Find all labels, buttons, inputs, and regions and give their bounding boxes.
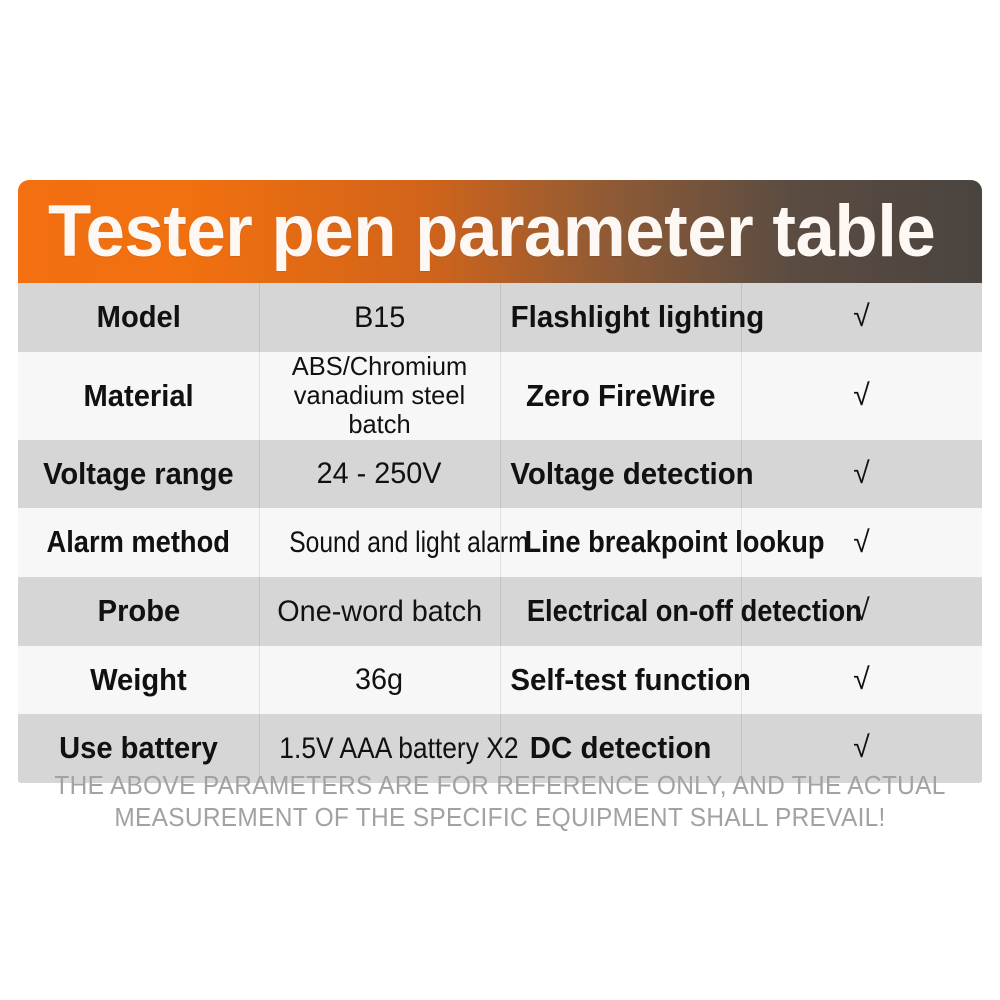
row-label-cell: Material	[18, 352, 259, 440]
row-value: B15	[354, 302, 405, 333]
row-feature-cell: Electrical on-off detection	[500, 577, 741, 646]
row-feature: Flashlight lighting	[511, 301, 765, 333]
row-check-cell: √	[741, 352, 982, 440]
row-value-cell: 36g	[259, 646, 500, 715]
row-value: 24 - 250V	[317, 458, 442, 489]
row-feature-cell: Flashlight lighting	[500, 283, 741, 352]
row-feature: Zero FireWire	[526, 380, 716, 412]
row-label: Weight	[90, 664, 187, 696]
row-label: Model	[96, 301, 180, 333]
disclaimer-line-1: THE ABOVE PARAMETERS ARE FOR REFERENCE O…	[37, 770, 962, 802]
row-label-cell: Alarm method	[18, 508, 259, 577]
row-feature: Line breakpoint lookup	[524, 526, 824, 558]
row-feature-cell: Self-test function	[500, 646, 741, 715]
checkmark-icon: √	[853, 459, 869, 489]
row-value-cell: Sound and light alarm	[259, 508, 500, 577]
row-value: Sound and light alarm	[289, 527, 528, 558]
table-header-row: Tester pen parameter table	[18, 180, 982, 283]
row-value: ABS/Chromium vanadium steel batch	[265, 352, 493, 440]
disclaimer-note: THE ABOVE PARAMETERS ARE FOR REFERENCE O…	[37, 770, 962, 835]
table-row: Alarm method Sound and light alarm Line …	[18, 508, 982, 577]
row-value: 36g	[355, 664, 403, 695]
table-row: Material ABS/Chromium vanadium steel bat…	[18, 352, 982, 440]
spec-sheet-canvas: Tester pen parameter table Model B15 Fla…	[0, 0, 1000, 1000]
row-feature-cell: Voltage detection	[500, 440, 741, 509]
table-header-banner: Tester pen parameter table	[18, 180, 982, 283]
row-value-cell: One-word batch	[259, 577, 500, 646]
row-check-cell: √	[741, 283, 982, 352]
row-label: Alarm method	[47, 526, 230, 558]
checkmark-icon: √	[853, 302, 869, 332]
row-label-cell: Model	[18, 283, 259, 352]
row-feature: Voltage detection	[510, 458, 753, 490]
row-check-cell: √	[741, 440, 982, 509]
row-value: One-word batch	[277, 596, 482, 627]
row-value-cell: 24 - 250V	[259, 440, 500, 509]
row-value-line1: ABS/Chromium	[292, 351, 468, 381]
row-label-cell: Voltage range	[18, 440, 259, 509]
checkmark-icon: √	[853, 381, 869, 411]
row-feature: DC detection	[530, 732, 712, 764]
row-label-cell: Weight	[18, 646, 259, 715]
page-title: Tester pen parameter table	[48, 195, 954, 268]
table-row: Voltage range 24 - 250V Voltage detectio…	[18, 440, 982, 509]
table-row: Probe One-word batch Electrical on-off d…	[18, 577, 982, 646]
row-value: 1.5V AAA battery X2	[279, 733, 518, 764]
row-value-line2: vanadium steel batch	[294, 380, 465, 439]
row-feature: Electrical on-off detection	[527, 595, 862, 627]
row-label-cell: Probe	[18, 577, 259, 646]
checkmark-icon: √	[853, 665, 869, 695]
table-body: Model B15 Flashlight lighting √ Material	[18, 283, 982, 783]
row-feature-cell: Zero FireWire	[500, 352, 741, 440]
row-value-cell: B15	[259, 283, 500, 352]
row-label: Use battery	[59, 732, 218, 764]
table-row: Model B15 Flashlight lighting √	[18, 283, 982, 352]
table-head: Tester pen parameter table	[18, 180, 982, 283]
row-feature: Self-test function	[510, 664, 751, 696]
row-check-cell: √	[741, 646, 982, 715]
table-row: Weight 36g Self-test function √	[18, 646, 982, 715]
row-label: Material	[83, 380, 193, 412]
checkmark-icon: √	[853, 528, 869, 558]
checkmark-icon: √	[853, 733, 869, 763]
disclaimer-line-2: MEASUREMENT OF THE SPECIFIC EQUIPMENT SH…	[37, 802, 962, 834]
row-label: Voltage range	[43, 458, 234, 490]
row-feature-cell: Line breakpoint lookup	[500, 508, 741, 577]
row-value-cell: ABS/Chromium vanadium steel batch	[259, 352, 500, 440]
parameter-table: Tester pen parameter table Model B15 Fla…	[18, 180, 982, 783]
row-label: Probe	[97, 595, 180, 627]
